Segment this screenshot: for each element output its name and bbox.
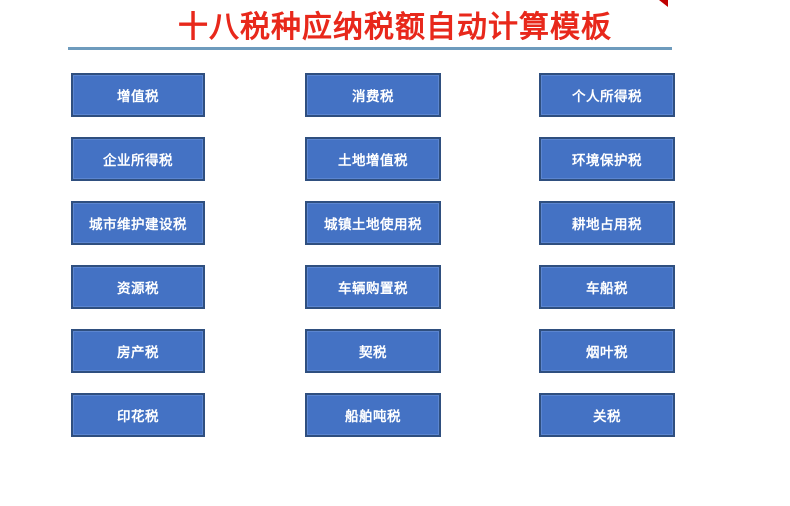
page-title: 十八税种应纳税额自动计算模板	[0, 9, 790, 47]
grid-gap	[439, 329, 539, 373]
tax-button-qiyesuodeshui[interactable]: 企业所得税	[71, 137, 205, 181]
tax-button-grid: 增值税 消费税 个人所得税 企业所得税 土地增值税 环境保护税 城市维护建设税 …	[71, 73, 673, 437]
tax-button-fangchanshui[interactable]: 房产税	[71, 329, 205, 373]
slide-canvas: { "page": { "title": "十八税种应纳税额自动计算模板", "…	[0, 0, 790, 506]
tax-button-chelianggouzhishui[interactable]: 车辆购置税	[305, 265, 441, 309]
grid-gap	[205, 137, 305, 181]
tax-button-xiaofeishui[interactable]: 消费税	[305, 73, 441, 117]
tax-button-yanyeshui[interactable]: 烟叶税	[539, 329, 675, 373]
red-corner-triangle-icon	[659, 0, 668, 7]
grid-gap	[205, 201, 305, 245]
tax-button-yinhuashui[interactable]: 印花税	[71, 393, 205, 437]
title-divider	[68, 47, 672, 50]
tax-button-qishui[interactable]: 契税	[305, 329, 441, 373]
grid-gap	[439, 73, 539, 117]
tax-button-zengzhishui[interactable]: 增值税	[71, 73, 205, 117]
tax-button-guanshui[interactable]: 关税	[539, 393, 675, 437]
grid-gap	[205, 265, 305, 309]
tax-button-gerensuodeshui[interactable]: 个人所得税	[539, 73, 675, 117]
tax-button-chechuanshui[interactable]: 车船税	[539, 265, 675, 309]
grid-gap	[205, 393, 305, 437]
tax-button-ziyuanshui[interactable]: 资源税	[71, 265, 205, 309]
grid-gap	[439, 393, 539, 437]
tax-button-huanjingbaohushui[interactable]: 环境保护税	[539, 137, 675, 181]
grid-gap	[439, 137, 539, 181]
tax-button-gengdizhanyongshui[interactable]: 耕地占用税	[539, 201, 675, 245]
grid-gap	[205, 329, 305, 373]
tax-button-chengzhentudishiyongshui[interactable]: 城镇土地使用税	[305, 201, 441, 245]
grid-gap	[205, 73, 305, 117]
tax-button-chuanbodunshui[interactable]: 船舶吨税	[305, 393, 441, 437]
tax-button-chengshiweihujianshesh[interactable]: 城市维护建设税	[71, 201, 205, 245]
tax-button-tudizengzhishui[interactable]: 土地增值税	[305, 137, 441, 181]
grid-gap	[439, 201, 539, 245]
grid-gap	[439, 265, 539, 309]
